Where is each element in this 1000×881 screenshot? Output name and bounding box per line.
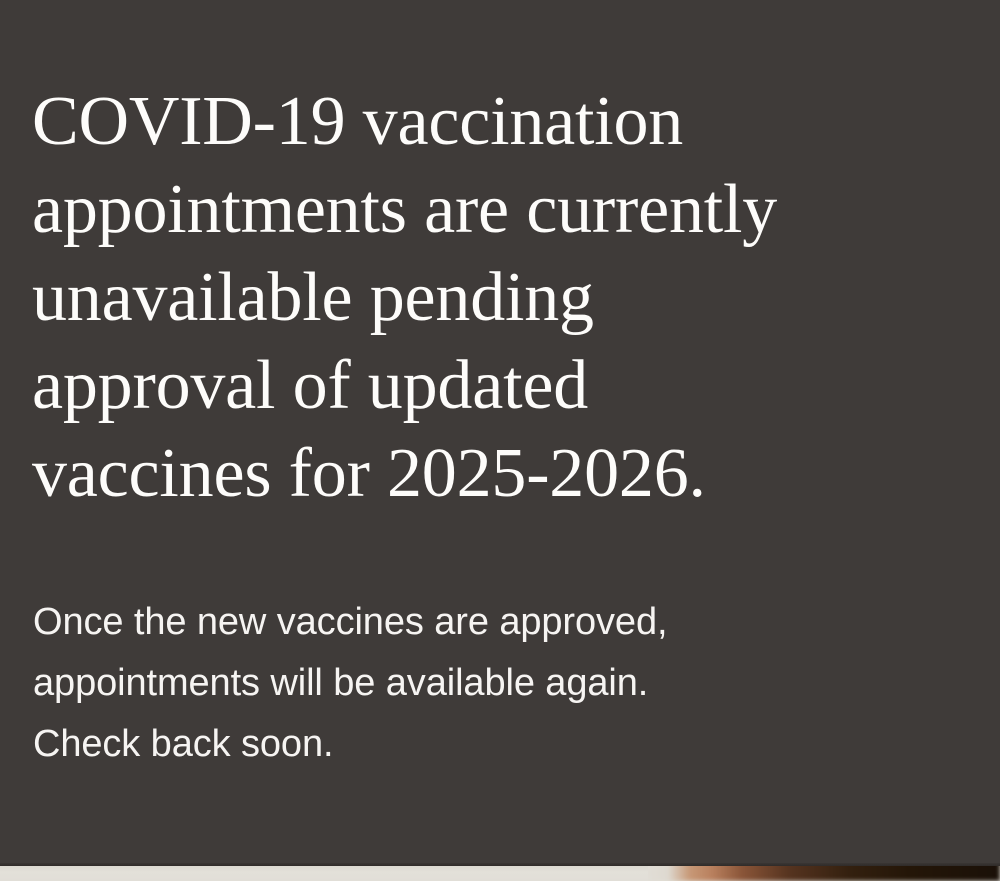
notice-body-text: Once the new vaccines are approved, appo…	[33, 592, 893, 775]
notice-content: COVID-19 vaccination appointments are cu…	[32, 0, 962, 865]
background-photo-light-area	[0, 866, 648, 881]
page-title: COVID-19 vaccination appointments are cu…	[32, 78, 952, 518]
vaccination-notice-screen: COVID-19 vaccination appointments are cu…	[0, 0, 1000, 881]
